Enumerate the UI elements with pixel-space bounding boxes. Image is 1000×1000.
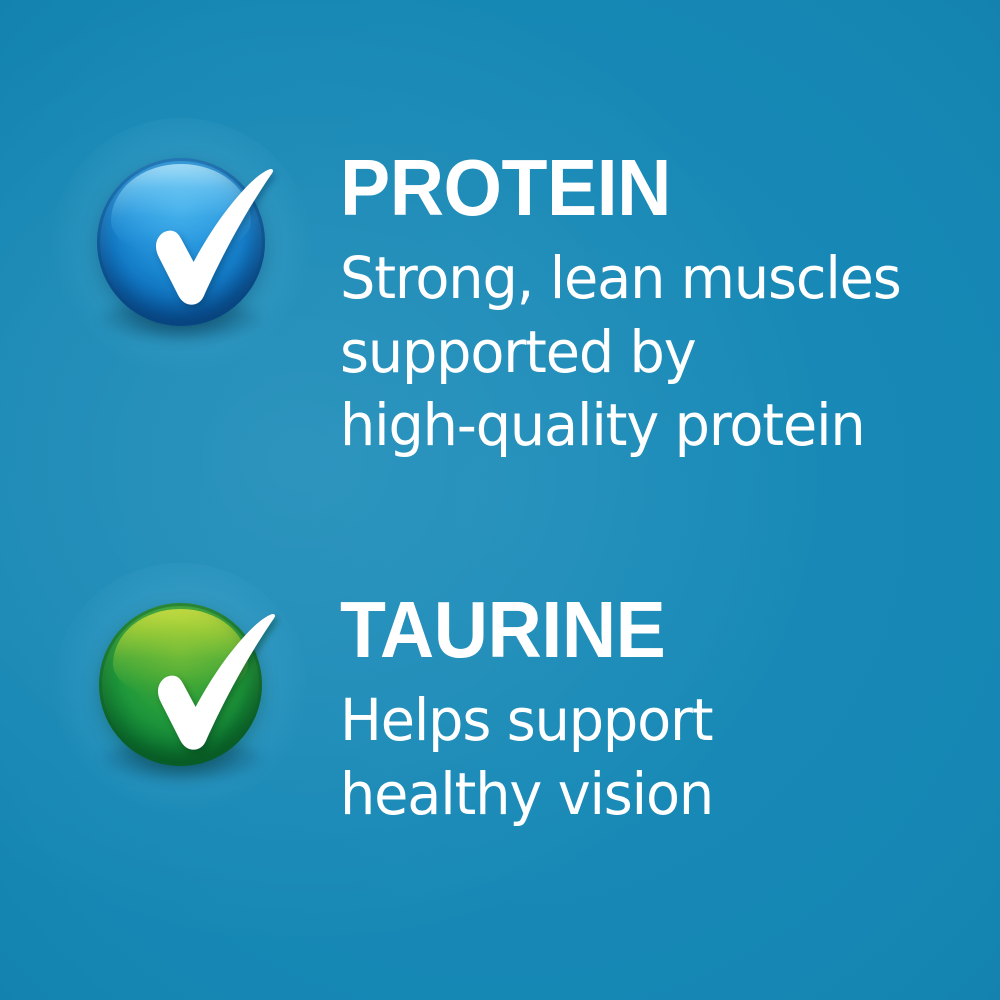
badge-sphere-blue — [97, 158, 265, 326]
benefit-text-taurine: TAURINE Helps support healthy vision — [340, 592, 1000, 831]
badge-slot-protein — [0, 150, 340, 370]
benefit-description-protein: Strong, lean muscles supported by high-q… — [340, 226, 916, 463]
benefit-row-taurine: TAURINE Helps support healthy vision — [0, 592, 1000, 831]
badge-slot-taurine — [0, 592, 340, 812]
description-line: healthy vision — [340, 758, 916, 832]
check-badge-taurine — [99, 603, 262, 766]
benefit-description-taurine: Helps support healthy vision — [340, 668, 916, 831]
benefit-title-taurine: TAURINE — [340, 592, 960, 668]
description-line: high-quality protein — [340, 389, 916, 463]
benefits-poster: PROTEIN Strong, lean muscles supported b… — [0, 0, 1000, 1000]
benefit-text-protein: PROTEIN Strong, lean muscles supported b… — [340, 150, 1000, 463]
description-line: supported by — [340, 316, 916, 390]
description-line: Helps support — [340, 684, 916, 758]
badge-sphere-green — [99, 603, 262, 766]
description-line: Strong, lean muscles — [340, 242, 916, 316]
benefit-row-protein: PROTEIN Strong, lean muscles supported b… — [0, 150, 1000, 463]
check-badge-protein — [97, 158, 265, 326]
benefit-title-protein: PROTEIN — [340, 150, 960, 226]
